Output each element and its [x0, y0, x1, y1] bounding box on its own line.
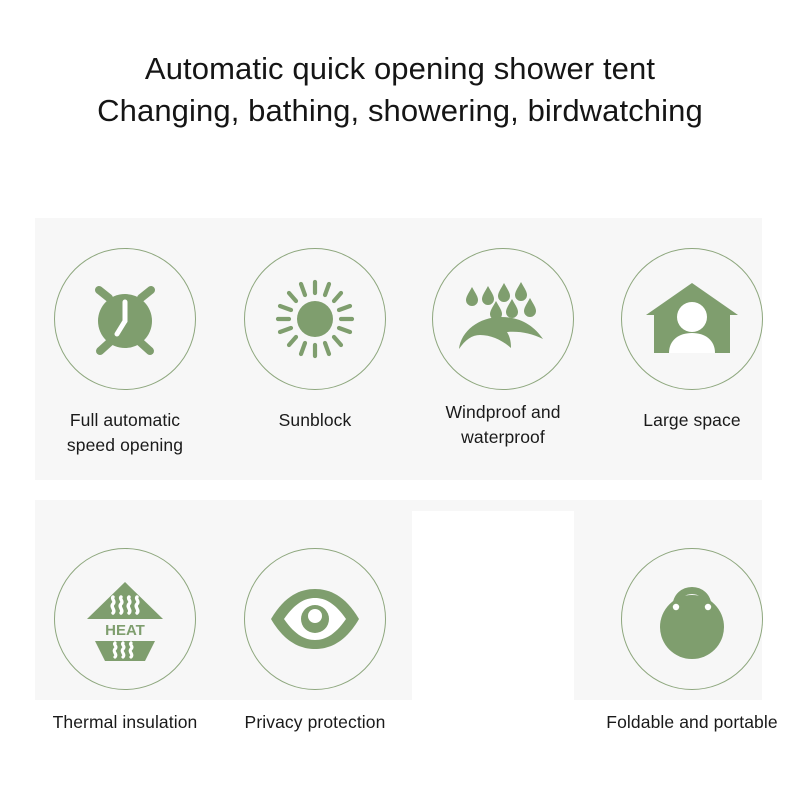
- feature-label-line-2: waterproof: [413, 425, 593, 450]
- heat-label: HEAT: [105, 622, 145, 639]
- feature-label-line-1: Windproof and: [413, 400, 593, 425]
- feature-label: Full automatic speed opening: [35, 408, 215, 458]
- feature-label-line-1: Thermal insulation: [35, 710, 215, 735]
- page-title: Automatic quick opening shower tent Chan…: [0, 48, 800, 131]
- feature-label-line-1: Privacy protection: [225, 710, 405, 735]
- feature-label: Foldable and portable: [602, 710, 782, 735]
- title-line-1: Automatic quick opening shower tent: [0, 48, 800, 90]
- eye-icon: [265, 569, 365, 669]
- feature-large-space[interactable]: Large space: [602, 248, 782, 433]
- feature-label-line-2: speed opening: [35, 433, 215, 458]
- sun-icon: [267, 271, 363, 367]
- feature-label-line-1: Full automatic: [35, 408, 215, 433]
- icon-ring: [54, 248, 196, 390]
- feature-label-line-1: Sunblock: [225, 408, 405, 433]
- infographic-page: Automatic quick opening shower tent Chan…: [0, 0, 800, 800]
- feature-foldable-portable[interactable]: Foldable and portable: [602, 548, 782, 735]
- feature-thermal-insulation[interactable]: HEAT Thermal insulation: [35, 548, 215, 735]
- feature-label-line-1: Foldable and portable: [602, 710, 782, 735]
- heat-insulation-icon: HEAT: [75, 569, 175, 669]
- icon-ring: [621, 248, 763, 390]
- title-line-2: Changing, bathing, showering, birdwatchi…: [0, 90, 800, 132]
- feature-label: Thermal insulation: [35, 710, 215, 735]
- icon-ring: [244, 248, 386, 390]
- feature-label: Sunblock: [225, 408, 405, 433]
- rain-canopy-icon: [451, 267, 555, 371]
- feature-label-line-1: Large space: [602, 408, 782, 433]
- icon-ring: [621, 548, 763, 690]
- icon-ring: [432, 248, 574, 390]
- feature-windproof-waterproof[interactable]: Windproof and waterproof: [413, 248, 593, 450]
- icon-ring: HEAT: [54, 548, 196, 690]
- feature-label: Privacy protection: [225, 710, 405, 735]
- feature-sunblock[interactable]: Sunblock: [225, 248, 405, 433]
- round-bag-icon: [642, 569, 742, 669]
- feature-privacy-protection[interactable]: Privacy protection: [225, 548, 405, 735]
- house-person-icon: [642, 269, 742, 369]
- feature-empty-slot: [413, 548, 593, 568]
- feature-label: Large space: [602, 408, 782, 433]
- alarm-clock-icon: [77, 271, 173, 367]
- feature-label: Windproof and waterproof: [413, 400, 593, 450]
- empty-feature-slot: [412, 511, 574, 701]
- feature-full-automatic-speed-opening[interactable]: Full automatic speed opening: [35, 248, 215, 458]
- icon-ring: [244, 548, 386, 690]
